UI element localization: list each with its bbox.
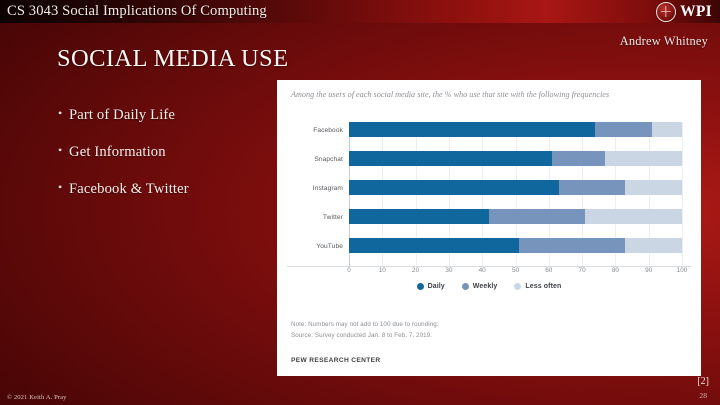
chart-x-tick-label: 50 <box>512 267 519 274</box>
chart-note: Note: Numbers may not add to 100 due to … <box>291 320 671 331</box>
bullet-marker-icon: • <box>58 143 69 158</box>
chart-bar <box>349 151 682 166</box>
chart-legend: DailyWeeklyLess often <box>277 283 701 290</box>
chart-x-tick-label: 30 <box>445 267 452 274</box>
chart-legend-label: Less often <box>525 283 561 290</box>
legend-swatch-icon <box>514 283 521 290</box>
author-name: Andrew Whitney <box>620 34 708 49</box>
chart-x-tick-label: 100 <box>677 267 688 274</box>
slide: CS 3043 Social Implications Of Computing… <box>0 0 720 405</box>
course-title: CS 3043 Social Implications Of Computing <box>7 3 267 20</box>
chart-bar-row: Instagram <box>287 180 691 209</box>
chart-bar-segment-less-often <box>585 209 682 224</box>
chart-bar-row: Twitter <box>287 209 691 238</box>
chart-legend-label: Weekly <box>473 283 498 290</box>
chart-legend-item: Weekly <box>462 283 498 290</box>
list-item: • Facebook & Twitter <box>58 180 273 198</box>
chart-source: Source: Survey conducted Jan. 8 to Feb. … <box>291 331 671 342</box>
chart-category-label: Snapchat <box>287 151 343 167</box>
chart-subtitle: Among the users of each social media sit… <box>291 89 639 101</box>
page-number: 28 <box>699 391 707 400</box>
list-item: • Get Information <box>58 143 273 161</box>
chart-bar-segment-daily <box>349 122 595 137</box>
legend-swatch-icon <box>462 283 469 290</box>
chart-bar-segment-daily <box>349 238 519 253</box>
wpi-logo-text: WPI <box>680 4 712 20</box>
chart-x-tick-label: 0 <box>347 267 351 274</box>
chart-bar-row: Snapchat <box>287 151 691 180</box>
chart-bar-segment-less-often <box>605 151 682 166</box>
chart-category-label: YouTube <box>287 238 343 254</box>
chart-legend-label: Daily <box>428 283 445 290</box>
chart-bar-segment-less-often <box>625 238 682 253</box>
chart-category-label: Facebook <box>287 122 343 138</box>
chart-x-tick-label: 70 <box>579 267 586 274</box>
bullet-marker-icon: • <box>58 106 69 121</box>
chart-bar-row: YouTube <box>287 238 691 267</box>
chart-source-brand: PEW RESEARCH CENTER <box>291 357 380 364</box>
chart-category-label: Twitter <box>287 209 343 225</box>
chart-legend-item: Less often <box>514 283 561 290</box>
chart-bar <box>349 122 682 137</box>
chart-bar-row: Facebook <box>287 122 691 151</box>
chart-bar <box>349 238 682 253</box>
chart-bar <box>349 180 682 195</box>
chart-x-tick-label: 20 <box>412 267 419 274</box>
chart-bar-segment-less-often <box>652 122 682 137</box>
chart-x-tick-label: 60 <box>545 267 552 274</box>
chart-legend-item: Daily <box>417 283 445 290</box>
list-item-label: Get Information <box>69 143 166 161</box>
list-item-label: Part of Daily Life <box>69 106 175 124</box>
chart-bar-segment-weekly <box>559 180 626 195</box>
slide-header-banner: CS 3043 Social Implications Of Computing… <box>0 0 720 23</box>
chart-bar-segment-weekly <box>519 238 626 253</box>
wpi-seal-icon <box>656 2 676 22</box>
chart-bar-segment-weekly <box>489 209 586 224</box>
chart-bar-segment-daily <box>349 151 552 166</box>
bullet-marker-icon: • <box>58 180 69 195</box>
chart-x-axis: 0102030405060708090100 <box>287 267 691 281</box>
chart-x-tick-label: 90 <box>645 267 652 274</box>
chart-bar <box>349 209 682 224</box>
list-item: • Part of Daily Life <box>58 106 273 124</box>
chart-bar-segment-weekly <box>595 122 652 137</box>
chart-bar-segment-weekly <box>552 151 605 166</box>
chart-bar-segment-daily <box>349 209 489 224</box>
chart-bar-segment-less-often <box>625 180 682 195</box>
legend-swatch-icon <box>417 283 424 290</box>
chart-bar-segment-daily <box>349 180 559 195</box>
copyright-text: © 2021 Keith A. Pray <box>7 394 67 401</box>
chart-plot-area: FacebookSnapchatInstagramTwitterYouTube <box>287 122 691 267</box>
chart-category-label: Instagram <box>287 180 343 196</box>
chart-x-tick-label: 40 <box>479 267 486 274</box>
wpi-logo: WPI <box>656 1 712 22</box>
chart-x-tick-label: 80 <box>612 267 619 274</box>
page-title: SOCIAL MEDIA USE <box>57 45 288 73</box>
reference-marker: [2] <box>697 376 709 387</box>
list-item-label: Facebook & Twitter <box>69 180 189 198</box>
chart-panel: Among the users of each social media sit… <box>277 80 701 376</box>
bullet-list: • Part of Daily Life • Get Information •… <box>58 106 273 218</box>
chart-notes: Note: Numbers may not add to 100 due to … <box>291 320 671 342</box>
chart-x-tick-label: 10 <box>379 267 386 274</box>
